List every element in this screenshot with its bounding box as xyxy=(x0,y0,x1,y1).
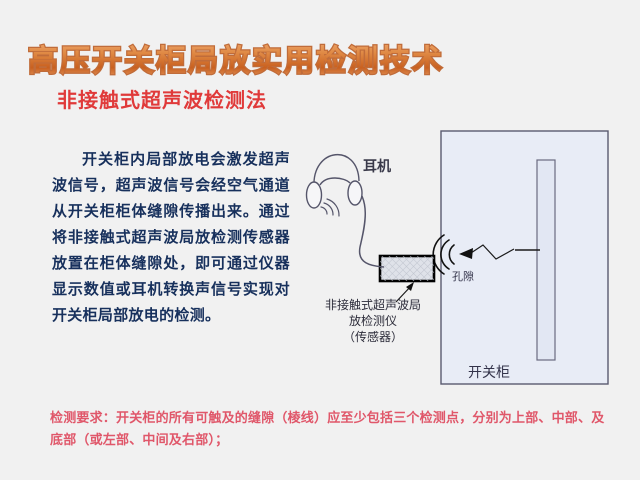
label-earphone: 耳机 xyxy=(363,156,391,176)
label-sensor-line2: 放检测仪 xyxy=(313,313,433,329)
label-sensor-line3: （传感器） xyxy=(313,329,433,345)
page-title: 高压开关柜局放实用检测技术 xyxy=(28,36,444,80)
switchgear-cabinet-box xyxy=(441,131,608,384)
label-sensor-line1: 非接触式超声波局 xyxy=(313,297,433,313)
label-switchgear-cabinet: 开关柜 xyxy=(468,362,510,382)
cabinet-panel-bar xyxy=(537,160,555,360)
detection-requirement-note: 检测要求：开关柜的所有可触及的缝隙（棱线）应至少包括三个检测点，分别为上部、中部… xyxy=(50,408,610,452)
body-paragraph: 开关柜内局部放电会激发超声波信号，超声波信号会经空气通道从开关柜柜体缝隙传播出来… xyxy=(52,146,290,328)
label-sensor: 非接触式超声波局 放检测仪 （传感器） xyxy=(313,297,433,345)
headphone-icon xyxy=(307,155,363,208)
ultrasonic-detection-diagram xyxy=(300,125,620,395)
ultrasonic-sensor-box xyxy=(380,256,434,281)
headphone-soundwave-icon xyxy=(321,199,339,216)
slide-root: 高压开关柜局放实用检测技术 高压开关柜局放实用检测技术 非接触式超声波检测法 开… xyxy=(0,0,640,480)
section-subtitle: 非接触式超声波检测法 xyxy=(57,84,267,113)
label-hole: 孔隙 xyxy=(452,268,474,284)
